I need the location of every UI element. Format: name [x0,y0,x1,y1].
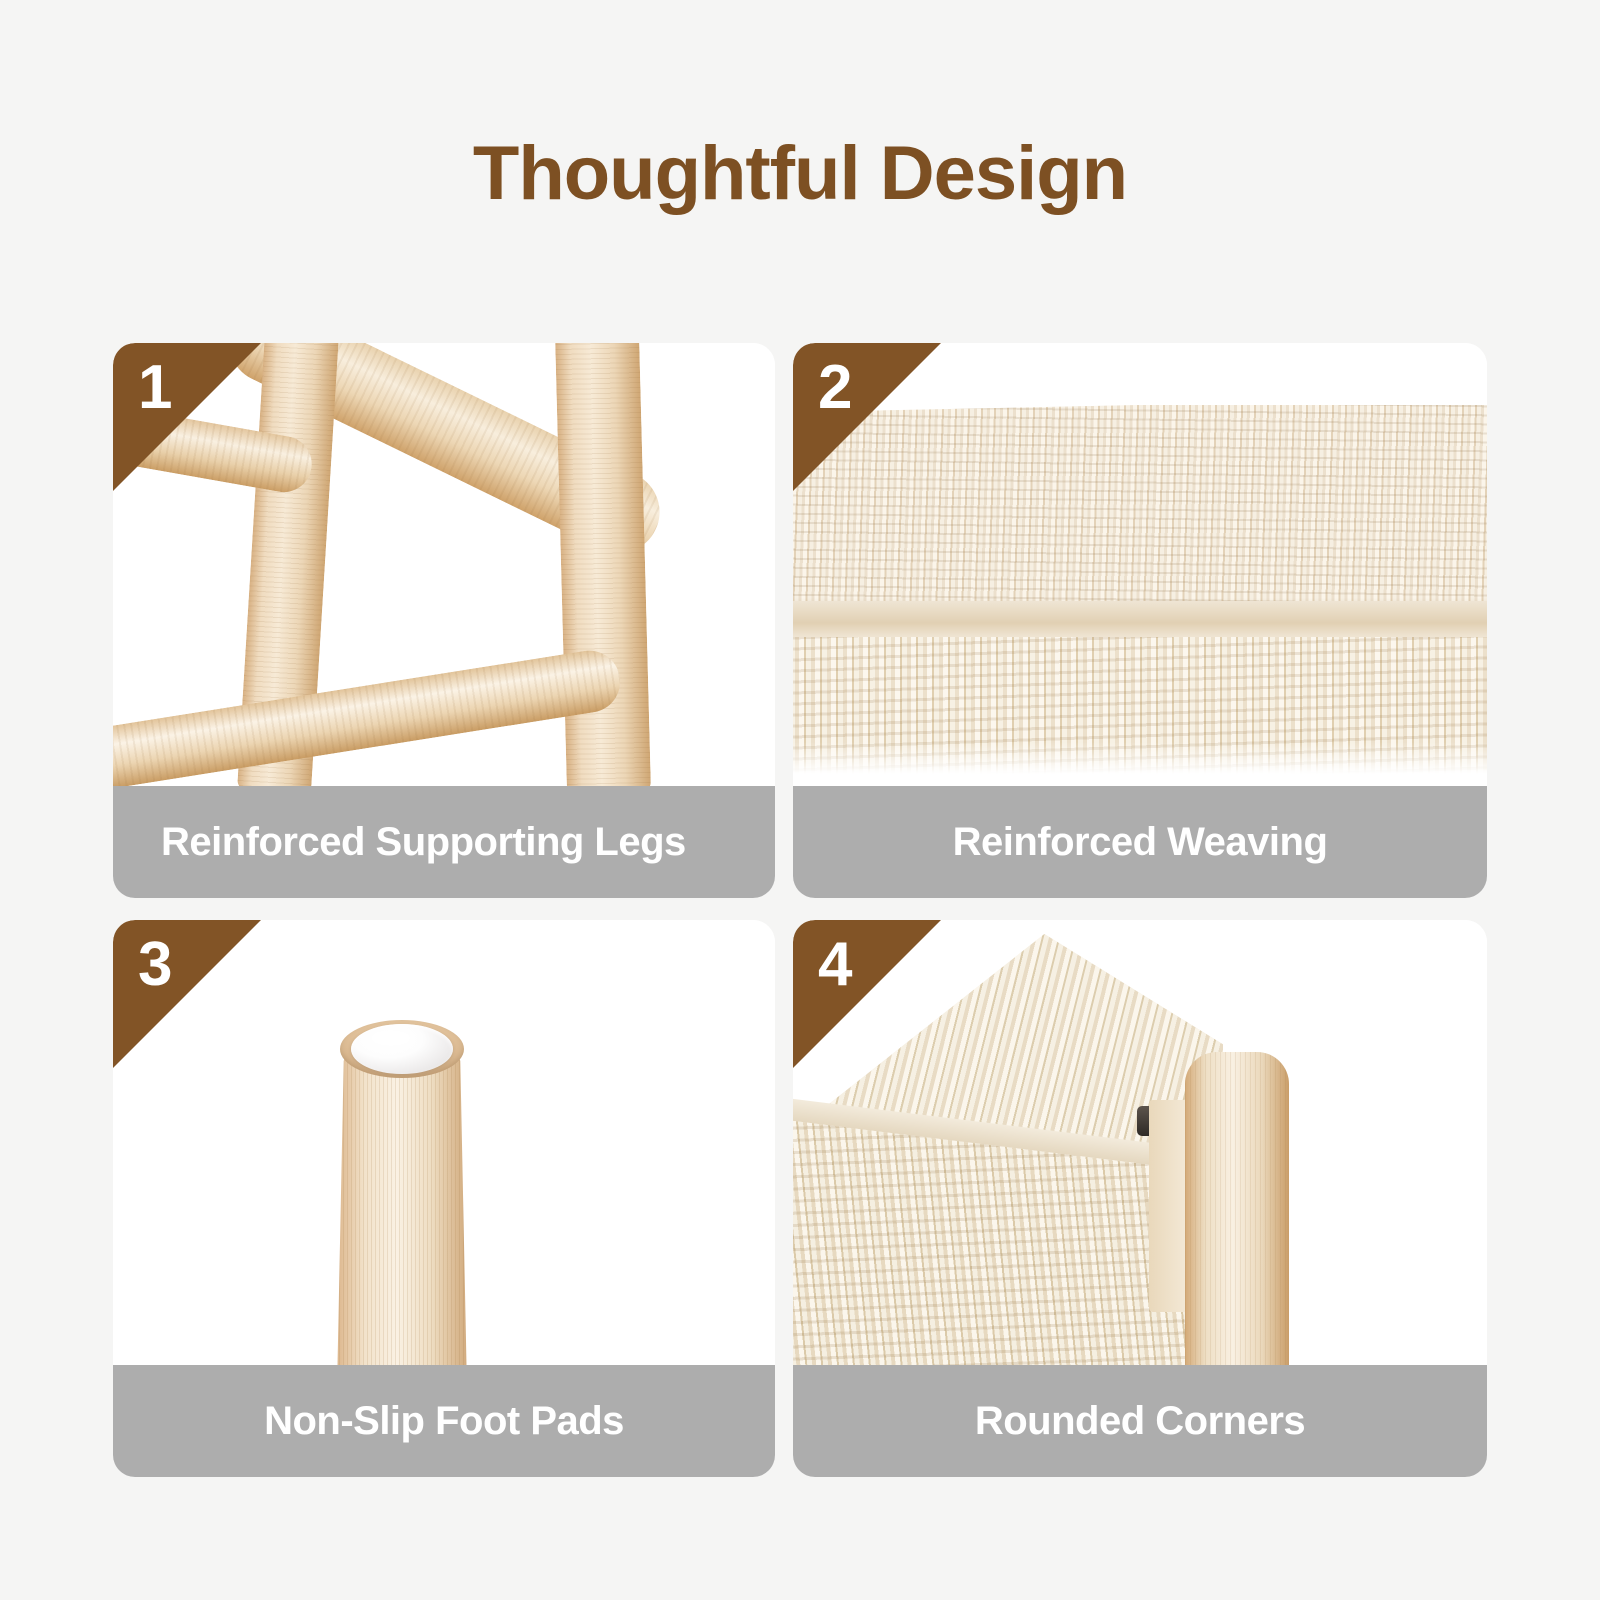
page-title: Thoughtful Design [0,134,1600,214]
weave-front-edge [793,601,1487,641]
foot-pad-highlight [371,1030,411,1046]
feature-card-3[interactable]: 3 Non-Slip Foot Pads [113,920,775,1477]
wood-rung-lower [113,646,625,786]
feature-card-1[interactable]: 1 Reinforced Supporting Legs [113,343,775,898]
caption-bar-3: Non-Slip Foot Pads [113,1365,775,1477]
caption-label: Reinforced Weaving [953,820,1328,865]
caption-bar-1: Reinforced Supporting Legs [113,786,775,898]
wood-leg-right [555,343,651,786]
photo-bottom-fade [793,742,1487,786]
feature-photo-reinforced-weaving: 2 [793,343,1487,786]
caption-label: Rounded Corners [975,1399,1305,1444]
feature-photo-rounded-corners: 4 [793,920,1487,1365]
caption-label: Non-Slip Foot Pads [264,1399,624,1444]
feature-grid: 1 Reinforced Supporting Legs 2 Reinforce… [113,343,1487,1477]
step-number: 1 [138,357,171,419]
rounded-corner-post [1185,1052,1289,1365]
caption-label: Reinforced Supporting Legs [161,820,686,865]
feature-photo-non-slip-foot-pads: 3 [113,920,775,1365]
weave-top-surface [793,405,1487,623]
feature-card-2[interactable]: 2 Reinforced Weaving [793,343,1487,898]
woven-seat-graphic [793,405,1487,786]
step-number: 4 [818,934,851,996]
tapered-wooden-leg [335,1028,469,1365]
feature-photo-reinforced-supporting-legs: 1 [113,343,775,786]
step-badge-3: 3 [113,920,261,1068]
corner-triangle-icon [113,920,261,1068]
caption-bar-2: Reinforced Weaving [793,786,1487,898]
feature-card-4[interactable]: 4 Rounded Corners [793,920,1487,1477]
step-number: 3 [138,934,171,996]
caption-bar-4: Rounded Corners [793,1365,1487,1477]
